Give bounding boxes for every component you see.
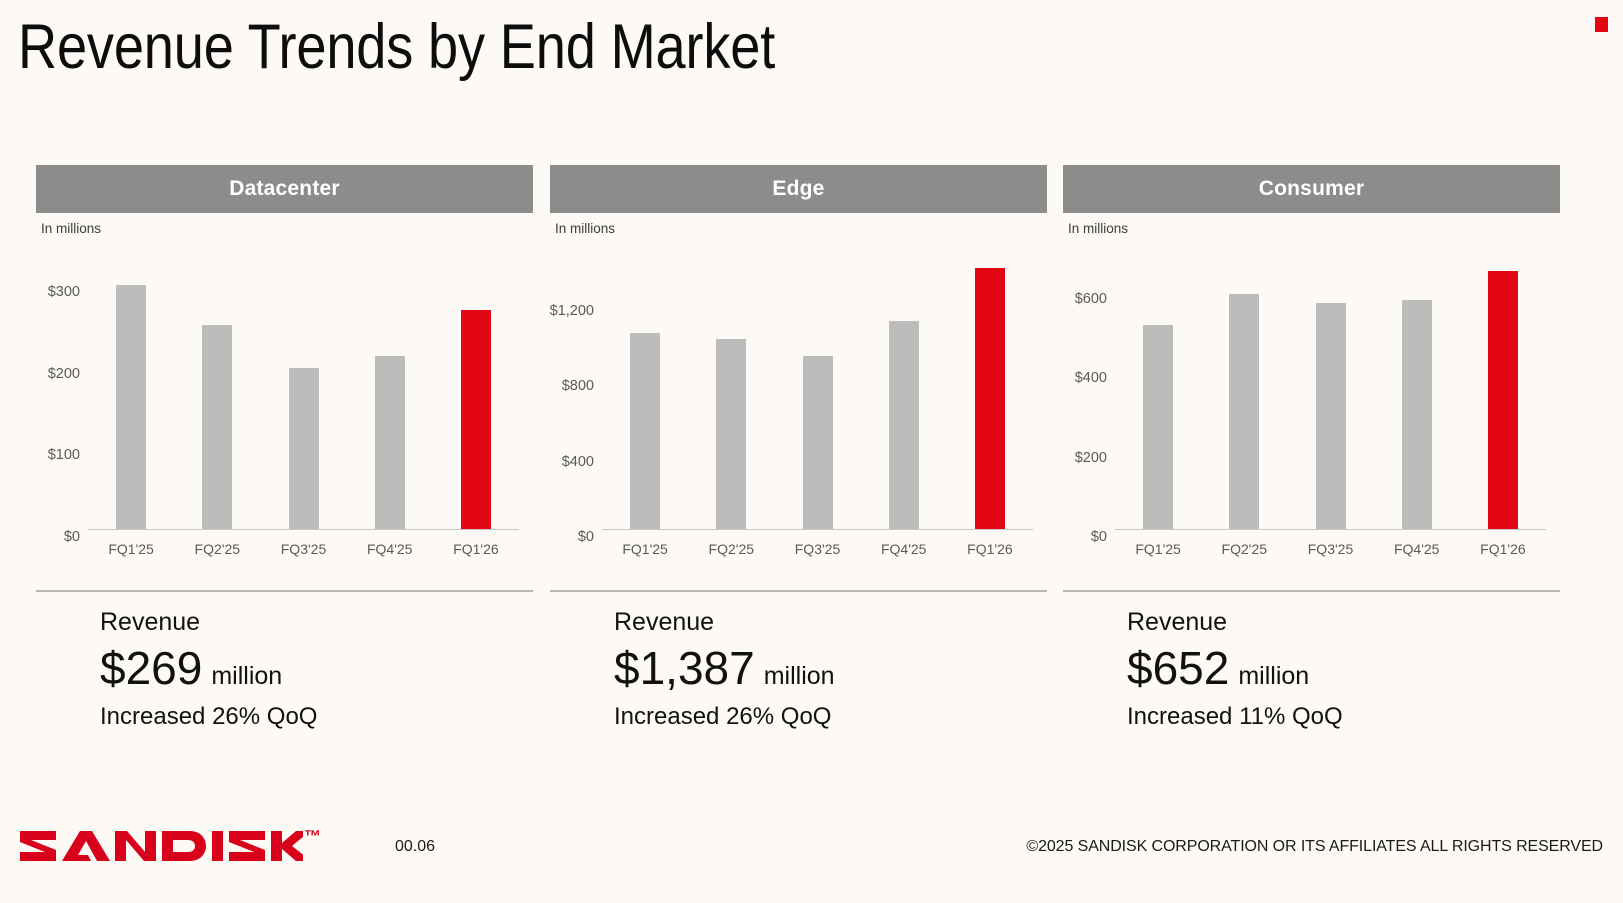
summary-block-consumer: Revenue $652 million Increased 11% QoQ [1063, 592, 1560, 731]
panel-units-label: In millions [1068, 221, 1560, 236]
panel-header-edge: Edge [550, 165, 1047, 213]
panel-title: Edge [772, 177, 824, 201]
bar-slot: FQ1'25 [1115, 260, 1201, 529]
panel-units-label: In millions [555, 221, 1047, 236]
slide-footer: ™ 00.06 ©2025 SANDISK CORPORATION OR ITS… [0, 808, 1623, 903]
x-axis-tick-label: FQ1'26 [1480, 541, 1525, 557]
y-axis-tick-label: $400 [1075, 370, 1107, 386]
summary-label: Revenue [100, 606, 533, 638]
panel-header-consumer: Consumer [1063, 165, 1560, 213]
bar-slot: FQ3'25 [774, 260, 860, 529]
bar-series: FQ1'25FQ2'25FQ3'25FQ4'25FQ1'26 [88, 260, 519, 529]
page-number: 00.06 [395, 838, 435, 856]
y-axis-tick-label: $0 [64, 529, 80, 545]
bar [716, 339, 746, 529]
trademark-icon: ™ [304, 827, 321, 847]
bar [202, 325, 232, 528]
bar-chart-datacenter: $0$100$200$300 FQ1'25FQ2'25FQ3'25FQ4'25F… [36, 250, 533, 580]
bar-slot: FQ4'25 [1374, 260, 1460, 529]
summary-delta: Increased 26% QoQ [100, 703, 533, 731]
summary-value: $269 [100, 641, 202, 695]
y-axis-tick-label: $200 [1075, 450, 1107, 466]
summary-unit: million [764, 662, 835, 691]
copyright-notice: ©2025 SANDISK CORPORATION OR ITS AFFILIA… [1026, 838, 1603, 856]
x-axis-tick-label: FQ4'25 [881, 541, 926, 557]
x-axis-tick-label: FQ1'26 [967, 541, 1012, 557]
x-axis-tick-label: FQ2'25 [195, 541, 240, 557]
sandisk-wordmark-icon [18, 825, 303, 867]
bar-highlighted [461, 310, 491, 529]
bar-slot: FQ2'25 [688, 260, 774, 529]
y-axis-tick-label: $200 [48, 366, 80, 382]
summary-value: $1,387 [614, 641, 755, 695]
summary-unit: million [1238, 662, 1309, 691]
x-axis-tick-label: FQ3'25 [1308, 541, 1353, 557]
page-title: Revenue Trends by End Market [18, 8, 775, 86]
bar-highlighted [1488, 271, 1518, 528]
panel-units-label: In millions [41, 221, 533, 236]
summary-block-datacenter: Revenue $269 million Increased 26% QoQ [36, 592, 533, 731]
panel-datacenter: Datacenter In millions $0$100$200$300 FQ… [36, 165, 533, 731]
y-axis-tick-label: $0 [578, 529, 594, 545]
bar [1316, 303, 1346, 528]
bar [630, 333, 660, 529]
y-axis-tick-label: $0 [1091, 529, 1107, 545]
bar-slot: FQ2'25 [174, 260, 260, 529]
y-axis-tick-label: $400 [562, 454, 594, 470]
y-axis-tick-label: $1,200 [550, 303, 594, 319]
chart-plot-area: $0$100$200$300 FQ1'25FQ2'25FQ3'25FQ4'25F… [88, 260, 519, 530]
summary-value-row: $1,387 million [614, 641, 1047, 695]
x-axis-tick-label: FQ1'25 [622, 541, 667, 557]
bar [1143, 325, 1173, 528]
bar-series: FQ1'25FQ2'25FQ3'25FQ4'25FQ1'26 [1115, 260, 1546, 529]
summary-value-row: $269 million [100, 641, 533, 695]
bar-slot: FQ1'25 [602, 260, 688, 529]
bar [803, 356, 833, 528]
summary-label: Revenue [1127, 606, 1560, 638]
bar-slot: FQ1'25 [88, 260, 174, 529]
summary-value-row: $652 million [1127, 641, 1560, 695]
slide-root: Revenue Trends by End Market Datacenter … [0, 0, 1623, 903]
summary-block-edge: Revenue $1,387 million Increased 26% QoQ [550, 592, 1047, 731]
y-axis-tick-label: $300 [48, 284, 80, 300]
panel-title: Consumer [1259, 177, 1364, 201]
bar-slot: FQ1'26 [433, 260, 519, 529]
chart-plot-area: $0$400$800$1,200 FQ1'25FQ2'25FQ3'25FQ4'2… [602, 260, 1033, 530]
sandisk-logo: ™ [18, 825, 321, 867]
x-axis-line [1115, 529, 1546, 531]
summary-delta: Increased 11% QoQ [1127, 703, 1560, 731]
summary-label: Revenue [614, 606, 1047, 638]
x-axis-tick-label: FQ4'25 [367, 541, 412, 557]
y-axis-tick-label: $800 [562, 378, 594, 394]
x-axis-tick-label: FQ2'25 [709, 541, 754, 557]
bar [289, 368, 319, 528]
bar-slot: FQ3'25 [260, 260, 346, 529]
panel-header-datacenter: Datacenter [36, 165, 533, 213]
panel-consumer: Consumer In millions $0$200$400$600 FQ1'… [1063, 165, 1560, 731]
x-axis-tick-label: FQ2'25 [1222, 541, 1267, 557]
bar-series: FQ1'25FQ2'25FQ3'25FQ4'25FQ1'26 [602, 260, 1033, 529]
bar-chart-edge: $0$400$800$1,200 FQ1'25FQ2'25FQ3'25FQ4'2… [550, 250, 1047, 580]
y-axis-tick-label: $600 [1075, 291, 1107, 307]
x-axis-tick-label: FQ1'26 [453, 541, 498, 557]
x-axis-line [88, 529, 519, 531]
bar [1229, 294, 1259, 529]
bar-slot: FQ4'25 [347, 260, 433, 529]
x-axis-line [602, 529, 1033, 531]
corner-accent-marker [1595, 17, 1608, 32]
bar [116, 285, 146, 528]
x-axis-tick-label: FQ1'25 [108, 541, 153, 557]
bar [889, 321, 919, 528]
summary-delta: Increased 26% QoQ [614, 703, 1047, 731]
x-axis-tick-label: FQ3'25 [281, 541, 326, 557]
panel-edge: Edge In millions $0$400$800$1,200 FQ1'25… [550, 165, 1047, 731]
x-axis-tick-label: FQ1'25 [1135, 541, 1180, 557]
bar-chart-consumer: $0$200$400$600 FQ1'25FQ2'25FQ3'25FQ4'25F… [1063, 250, 1560, 580]
panel-title: Datacenter [229, 177, 340, 201]
y-axis-tick-label: $100 [48, 447, 80, 463]
chart-plot-area: $0$200$400$600 FQ1'25FQ2'25FQ3'25FQ4'25F… [1115, 260, 1546, 530]
bar [1402, 300, 1432, 529]
bar-slot: FQ3'25 [1287, 260, 1373, 529]
summary-value: $652 [1127, 641, 1229, 695]
bar-slot: FQ4'25 [861, 260, 947, 529]
summary-unit: million [211, 662, 282, 691]
bar-slot: FQ2'25 [1201, 260, 1287, 529]
bar-slot: FQ1'26 [947, 260, 1033, 529]
bar-highlighted [975, 268, 1005, 528]
bar-slot: FQ1'26 [1460, 260, 1546, 529]
x-axis-tick-label: FQ4'25 [1394, 541, 1439, 557]
bar [375, 356, 405, 528]
x-axis-tick-label: FQ3'25 [795, 541, 840, 557]
